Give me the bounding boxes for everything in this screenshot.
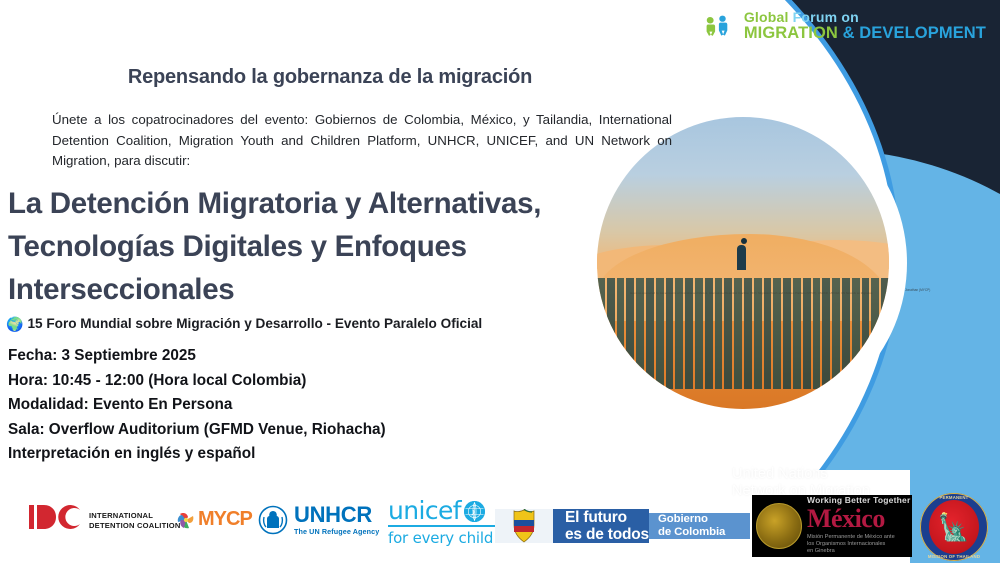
detail-date: Fecha: 3 Septiembre 2025 <box>8 344 608 369</box>
idc-mark-icon <box>28 502 82 540</box>
mycp-logo: MYCP <box>175 508 252 531</box>
colombia-government-label: Gobierno de Colombia <box>649 513 750 539</box>
mexico-mission-logo: Working Better Together México Misión Pe… <box>752 495 912 557</box>
unhcr-logo: UNHCR The UN Refugee Agency <box>258 504 379 535</box>
detail-room: Sala: Overflow Auditorium (GFMD Venue, R… <box>8 418 608 443</box>
event-details: Fecha: 3 Septiembre 2025 Hora: 10:45 - 1… <box>8 344 608 467</box>
detail-interpretation: Interpretación en inglés y español <box>8 442 608 467</box>
partner-logo-strip: INTERNATIONAL DETENTION COALITION MYCP <box>0 490 1000 563</box>
mexico-wordmark: Working Better Together México Misión Pe… <box>807 496 910 555</box>
mexico-sub-line1: Misión Permanente de México ante <box>807 534 910 541</box>
gfmd-people-globe-icon <box>697 6 737 46</box>
thailand-mission-logo: PERMANENT 🗽 MISSION OF THAILAND <box>920 493 992 561</box>
detail-modality: Modalidad: Evento En Persona <box>8 393 608 418</box>
unhcr-hands-icon <box>258 505 288 535</box>
thailand-seal-bottom-text: MISSION OF THAILAND <box>920 554 988 559</box>
unhcr-line2: The UN Refugee Agency <box>294 528 379 535</box>
thailand-seal-top-text: PERMANENT <box>920 495 988 500</box>
gfmd-logo: Global Forum on MIGRATION & DEVELOPMENT <box>697 6 986 46</box>
colombia-slogan-line2: es de todos <box>565 526 649 543</box>
un-network-line1: United Nations <box>732 466 870 484</box>
gfmd-line1-global: Global <box>744 9 793 25</box>
gfmd-line2-development: & DEVELOPMENT <box>843 24 986 42</box>
idc-logo: INTERNATIONAL DETENTION COALITION <box>28 502 181 540</box>
mexico-eagle-seal-icon <box>756 503 802 549</box>
intro-paragraph: Únete a los copatrocinadores del evento:… <box>52 110 672 172</box>
colombia-gov-line2: de Colombia <box>658 526 725 539</box>
unhcr-line1: UNHCR <box>294 504 379 526</box>
illustration-person-head <box>741 238 747 244</box>
event-poster: Global Forum on MIGRATION & DEVELOPMENT … <box>0 0 1000 563</box>
unicef-logo: unicef for every child <box>388 498 496 547</box>
unicef-divider <box>388 525 496 527</box>
forum-line-label: 15 Foro Mundial sobre Migración y Desarr… <box>27 316 482 331</box>
unicef-line2: for every child <box>388 529 496 547</box>
gfmd-wordmark: Global Forum on MIGRATION & DEVELOPMENT <box>744 10 986 42</box>
idc-line2: DETENTION COALITION <box>89 521 181 531</box>
unicef-mother-child-icon <box>464 501 485 522</box>
globe-icon: 🌍 <box>6 317 23 331</box>
unicef-line1: unicef <box>388 498 461 524</box>
colombia-flag-box <box>495 509 553 543</box>
colombia-slogan-line1: El futuro <box>565 509 649 526</box>
mexico-name: México <box>807 506 910 532</box>
gfmd-line2-migration: MIGRATION <box>744 24 843 42</box>
colombia-gov-line1: Gobierno <box>658 513 725 526</box>
mycp-pinwheel-icon <box>175 509 197 531</box>
illustration-person-body <box>737 245 746 270</box>
gfmd-line1-forum: Forum on <box>793 9 859 25</box>
thailand-seal-ring <box>920 493 988 561</box>
forum-line: 🌍 15 Foro Mundial sobre Migración y Desa… <box>6 316 626 331</box>
colombia-government-logo: El futuro es de todos Gobierno de Colomb… <box>495 495 750 557</box>
mycp-wordmark: MYCP <box>198 508 252 531</box>
unhcr-wordmark: UNHCR The UN Refugee Agency <box>294 504 379 535</box>
illustration-caption: Event co-sponsored by Governments of Col… <box>626 292 877 296</box>
detail-time: Hora: 10:45 - 12:00 (Hora local Colombia… <box>8 369 608 394</box>
page-title: Repensando la gobernanza de la migración <box>0 66 660 89</box>
mexico-sub-line2: los Organismos Internacionales <box>807 541 910 548</box>
idc-wordmark: INTERNATIONAL DETENTION COALITION <box>89 511 181 531</box>
headline: La Detención Migratoria y Alternativas, … <box>8 182 608 311</box>
colombia-coat-of-arms-icon <box>511 509 537 543</box>
colombia-slogan: El futuro es de todos <box>553 509 649 543</box>
mexico-sub-line3: en Ginebra <box>807 548 910 555</box>
thailand-garuda-seal-icon: PERMANENT 🗽 MISSION OF THAILAND <box>920 493 988 561</box>
illustration-credit: Jonathan (MYCP) <box>905 288 1000 292</box>
idc-line1: INTERNATIONAL <box>89 511 181 521</box>
